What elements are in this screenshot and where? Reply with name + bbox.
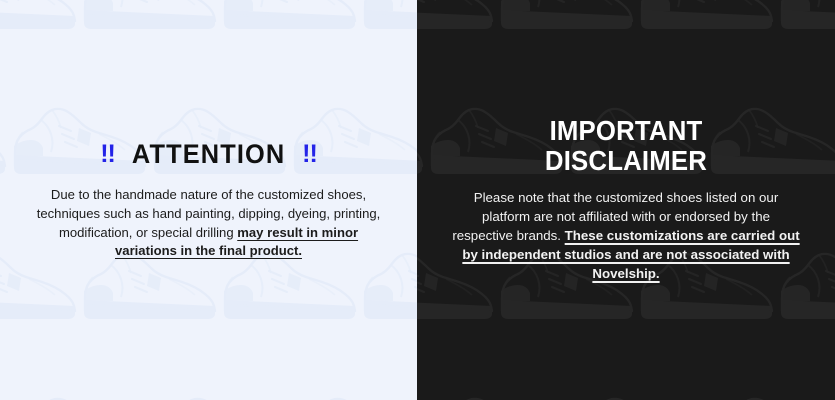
disclaimer-heading-line2: DISCLAIMER	[465, 146, 787, 176]
sneaker-icon	[417, 0, 497, 33]
sneaker-icon	[0, 388, 10, 400]
disclaimer-panel: IMPORTANT DISCLAIMER Please note that th…	[417, 0, 835, 400]
dual-notice-banner: !! ATTENTION !! Due to the handmade natu…	[0, 0, 835, 400]
sneaker-icon	[637, 0, 777, 33]
disclaimer-body: Please note that the customized shoes li…	[451, 189, 801, 283]
disclaimer-heading-line1: IMPORTANT	[465, 116, 787, 146]
attention-panel: !! ATTENTION !! Due to the handmade natu…	[0, 0, 417, 400]
sneaker-icon	[567, 388, 707, 400]
double-exclamation-mark-icon-left: !!	[100, 140, 115, 169]
attention-heading-text: ATTENTION	[132, 139, 285, 170]
attention-content: !! ATTENTION !! Due to the handmade natu…	[0, 139, 417, 260]
disclaimer-heading: IMPORTANT DISCLAIMER	[451, 116, 801, 175]
sneaker-icon	[360, 0, 417, 33]
attention-heading: !! ATTENTION !!	[34, 139, 383, 170]
sneaker-icon	[497, 0, 637, 33]
sneaker-icon	[10, 388, 150, 400]
sneaker-icon	[80, 0, 220, 33]
sneaker-icon	[150, 388, 290, 400]
sneaker-icon	[707, 388, 835, 400]
sneaker-icon	[427, 388, 567, 400]
disclaimer-content: IMPORTANT DISCLAIMER Please note that th…	[417, 116, 835, 284]
sneaker-icon	[290, 388, 417, 400]
sneaker-icon	[777, 0, 835, 33]
sneaker-icon	[417, 388, 427, 400]
double-exclamation-mark-icon-right: !!	[302, 140, 317, 169]
sneaker-icon	[220, 0, 360, 33]
sneaker-icon	[0, 0, 80, 33]
attention-body: Due to the handmade nature of the custom…	[34, 186, 383, 260]
